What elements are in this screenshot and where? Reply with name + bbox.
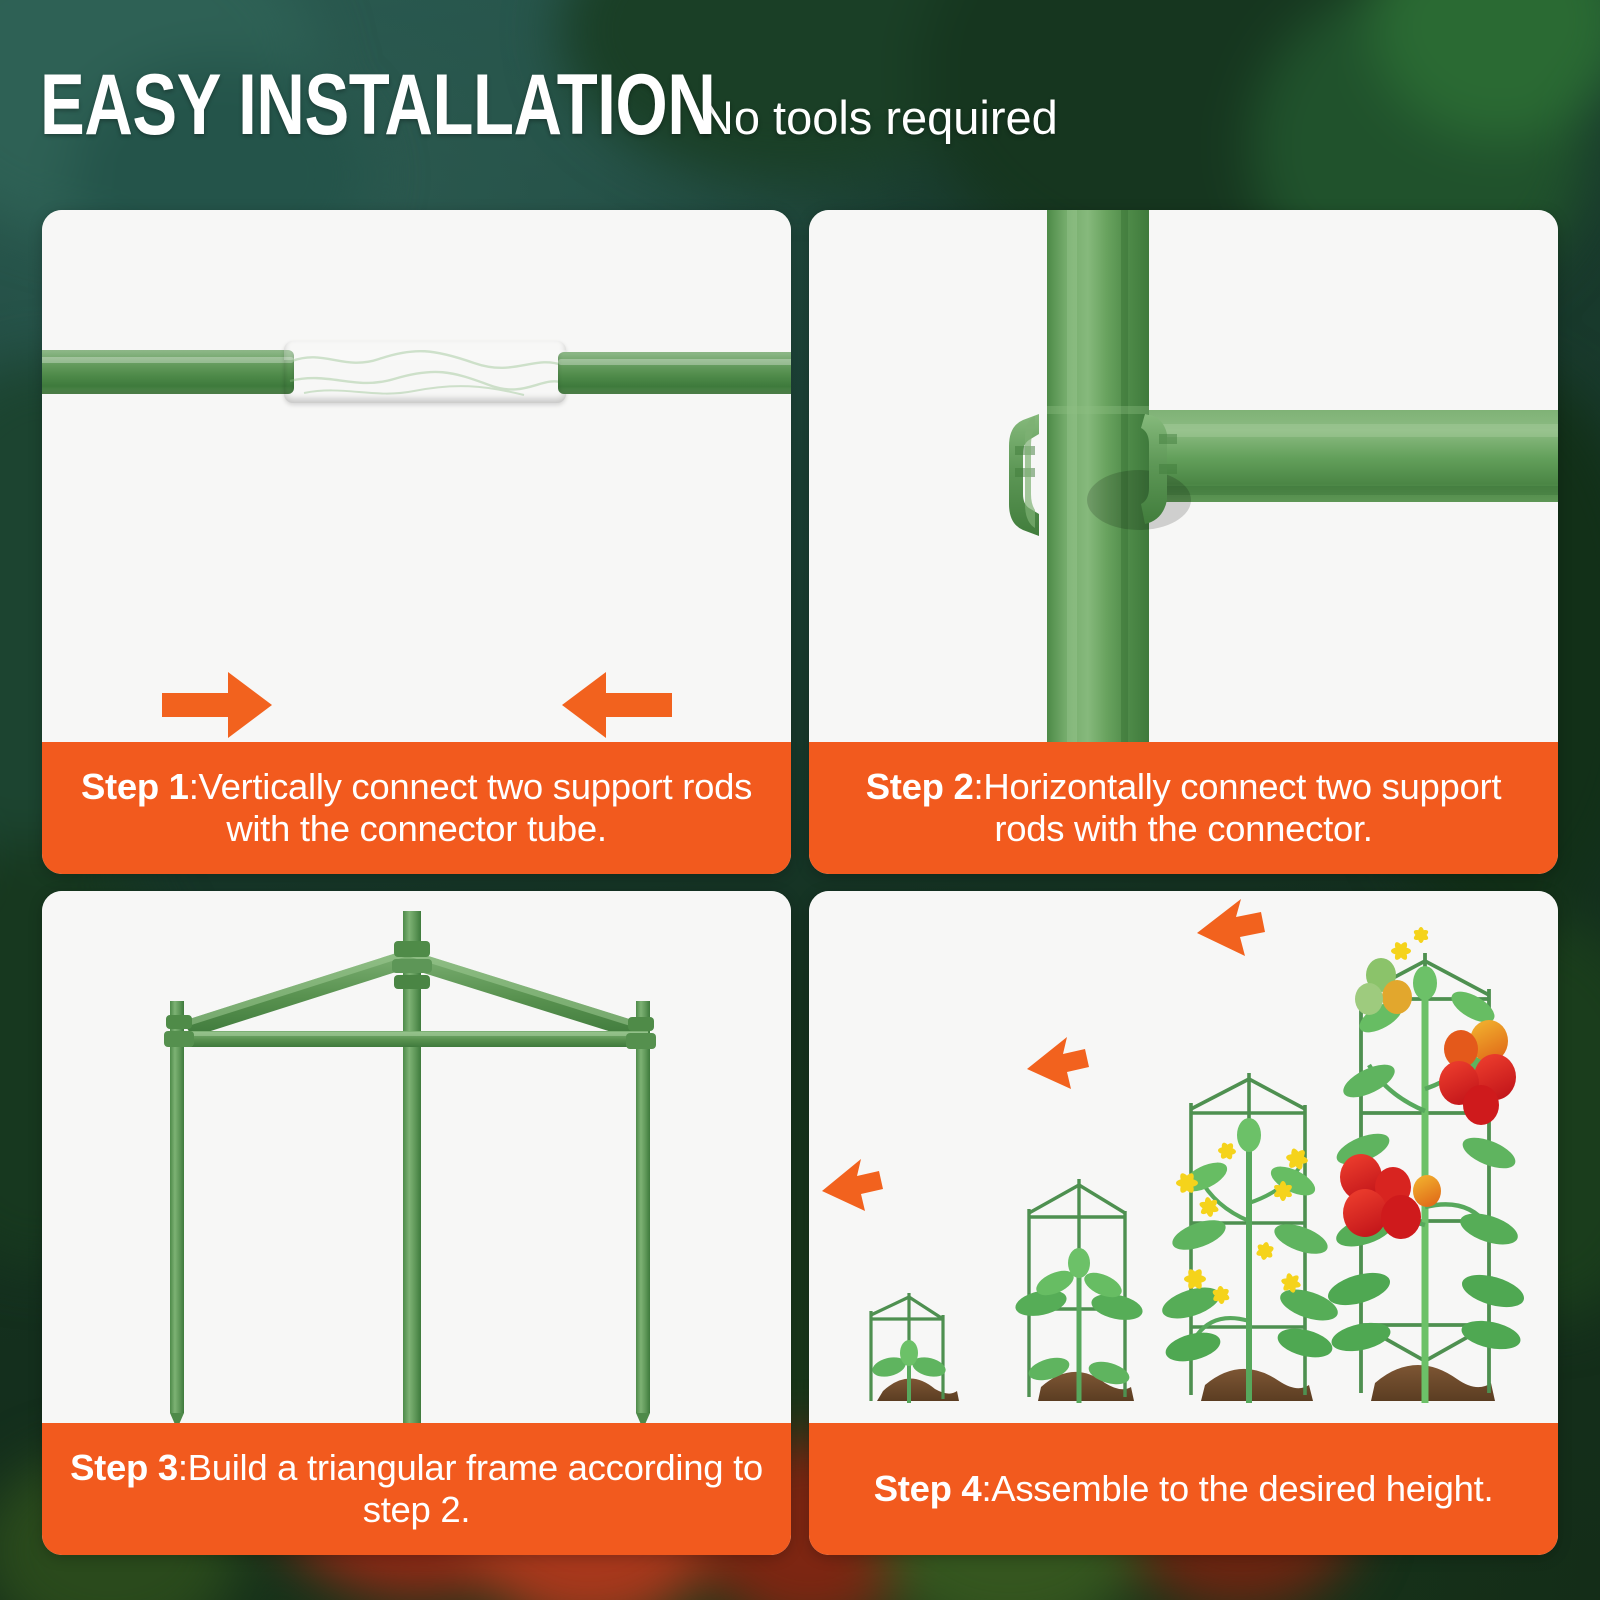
step-2-text: Horizontally connect two support rods wi…: [983, 766, 1501, 849]
step-card-2: Step 2:Horizontally connect two support …: [809, 210, 1558, 874]
frame-joint-left: [164, 1015, 194, 1047]
step-2-separator: :: [974, 766, 984, 807]
support-rod-assembled-right: [558, 352, 791, 394]
step-1-label: Step 1: [81, 766, 189, 807]
growth-stage-4: [1324, 927, 1527, 1403]
growth-arrow-1-icon: [822, 1159, 883, 1211]
page-subtitle: No tools required: [700, 94, 1058, 141]
step-card-1: Step 1:Vertically connect two support ro…: [42, 210, 791, 874]
growth-stage-1: [870, 1293, 959, 1403]
plant-4: [1324, 927, 1527, 1403]
step-1-figure: [42, 210, 791, 742]
growth-stage-3: [1158, 1073, 1341, 1403]
steps-grid: Step 1:Vertically connect two support ro…: [42, 210, 1558, 1555]
connector-tube-assembled: [284, 341, 566, 403]
arrow-left-icon: [562, 672, 672, 738]
step-4-caption: Step 4:Assemble to the desired height.: [809, 1423, 1558, 1555]
growth-stages-illustration: [809, 891, 1558, 1423]
frame-leg-left: [170, 1001, 184, 1413]
triangular-frame-illustration: [42, 891, 791, 1423]
step-3-figure: [42, 891, 791, 1423]
frame-joint-right: [626, 1017, 656, 1049]
step-card-4: Step 4:Assemble to the desired height.: [809, 891, 1558, 1555]
step-3-caption: Step 3:Build a triangular frame accordin…: [42, 1423, 791, 1555]
soil-mound-1: [877, 1378, 959, 1401]
step-1-caption: Step 1:Vertically connect two support ro…: [42, 742, 791, 874]
step-2-label: Step 2: [866, 766, 974, 807]
page-title: EASY INSTALLATION: [40, 62, 715, 148]
step-1-text: Vertically connect two support rods with…: [199, 766, 753, 849]
step-2-figure: [809, 210, 1558, 742]
page-header: EASY INSTALLATION No tools required: [40, 62, 1560, 172]
soil-mound-4: [1371, 1365, 1495, 1401]
step-3-text: Build a triangular frame according to st…: [188, 1447, 763, 1530]
step-2-caption: Step 2:Horizontally connect two support …: [809, 742, 1558, 874]
soil-mound-3: [1201, 1369, 1313, 1401]
step-4-label: Step 4: [874, 1468, 982, 1509]
sleeve-texture: [284, 341, 566, 403]
step-1-separator: :: [189, 766, 199, 807]
growth-arrow-3-icon: [1197, 899, 1265, 956]
arrow-right-icon: [162, 672, 272, 738]
step-4-text: Assemble to the desired height.: [991, 1468, 1493, 1509]
frame-joint-center: [392, 941, 432, 989]
step-3-label: Step 3: [70, 1447, 178, 1488]
tomato-cluster-upper: [1439, 1020, 1516, 1125]
connector-closeup-illustration: [809, 210, 1558, 742]
frame-leg-right: [636, 1001, 650, 1413]
step-4-separator: :: [981, 1468, 991, 1509]
growth-arrow-2-icon: [1027, 1037, 1089, 1089]
step-card-3: Step 3:Build a triangular frame accordin…: [42, 891, 791, 1555]
plant-3: [1158, 1118, 1341, 1403]
growth-stage-2: [1013, 1179, 1145, 1403]
step-3-separator: :: [178, 1447, 188, 1488]
support-rod-assembled-left: [42, 350, 294, 394]
step-4-figure: [809, 891, 1558, 1423]
